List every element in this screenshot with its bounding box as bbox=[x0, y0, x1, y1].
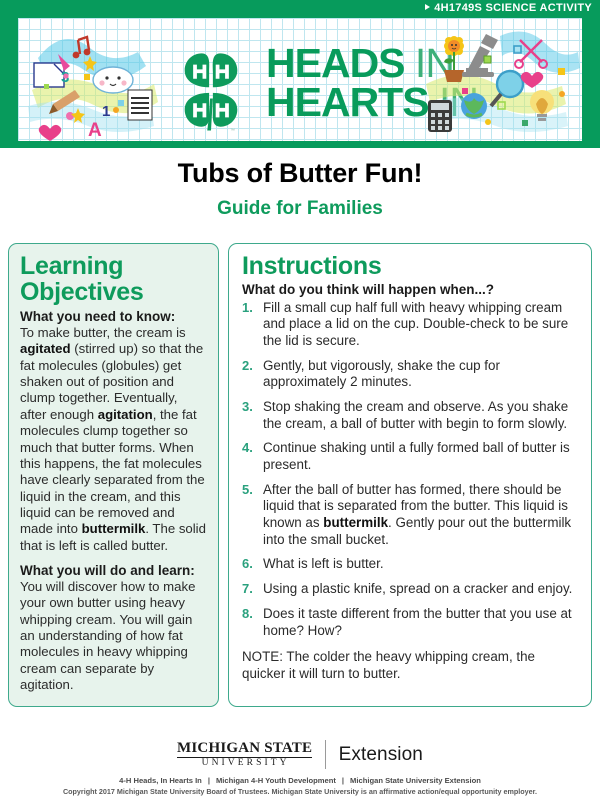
step-text-a: Stop shaking the cream and observe. As y… bbox=[263, 399, 568, 431]
learning-objectives-heading: Learning Objectives bbox=[20, 254, 207, 305]
page-subtitle: Guide for Families bbox=[0, 198, 600, 220]
what-you-will-do-body: You will discover how to make your own b… bbox=[20, 579, 207, 694]
what-you-will-do-label: What you will do and learn: bbox=[20, 563, 207, 578]
brand-hearts: HEARTS bbox=[266, 79, 429, 125]
msu-wordmark: MICHIGAN STATE UNIVERSITY bbox=[177, 741, 312, 769]
header-banner: 3 1 A ™ HEADS IN, HEARTS IN bbox=[18, 18, 582, 141]
banner-right-artwork bbox=[422, 18, 582, 141]
microscope-icon bbox=[462, 34, 498, 77]
list-item: Fill a small cup half full with heavy wh… bbox=[242, 300, 579, 350]
msu-divider bbox=[325, 740, 327, 769]
msu-extension-logo: MICHIGAN STATE UNIVERSITY Extension bbox=[0, 740, 600, 769]
s1-text-a: To make butter, the cream is bbox=[20, 325, 186, 340]
instructions-heading: Instructions bbox=[242, 254, 579, 280]
msu-michigan-state: MICHIGAN STATE bbox=[177, 741, 312, 758]
term-buttermilk-left: buttermilk bbox=[82, 521, 146, 536]
list-item: What is left is butter. bbox=[242, 556, 579, 573]
calculator-icon bbox=[428, 100, 452, 132]
list-item: Continue shaking until a fully formed ba… bbox=[242, 440, 579, 473]
step-text-a: Continue shaking until a fully formed ba… bbox=[263, 440, 570, 472]
credit-3: Michigan State University Extension bbox=[350, 776, 481, 785]
step-text-a: Does it taste different from the butter … bbox=[263, 606, 572, 638]
instructions-note: NOTE: The colder the heavy whipping crea… bbox=[242, 649, 579, 682]
step-bold: buttermilk bbox=[323, 515, 388, 530]
activity-code-text: 4H1749S SCIENCE ACTIVITY bbox=[434, 2, 592, 14]
banner-bottom-bar bbox=[0, 141, 600, 148]
triangle-right-icon bbox=[425, 4, 430, 10]
list-item: After the ball of butter has formed, the… bbox=[242, 482, 579, 549]
activity-code-label: 4H1749S SCIENCE ACTIVITY bbox=[425, 2, 592, 14]
footer-credits: 4-H Heads, In Hearts In|Michigan 4-H You… bbox=[0, 776, 600, 785]
msu-university: UNIVERSITY bbox=[177, 759, 312, 769]
globe-icon bbox=[461, 93, 487, 119]
term-agitated: agitated bbox=[20, 341, 71, 356]
credit-separator-1: | bbox=[202, 776, 216, 785]
credit-1: 4-H Heads, In Hearts In bbox=[119, 776, 202, 785]
banner-left-artwork: 3 1 A bbox=[18, 18, 168, 141]
four-h-clover-icon bbox=[164, 44, 258, 138]
msu-extension-word: Extension bbox=[339, 744, 423, 766]
step-text-a: Using a plastic knife, spread on a crack… bbox=[263, 581, 572, 596]
credit-separator-2: | bbox=[336, 776, 350, 785]
instructions-prompt: What do you think will happen when...? bbox=[242, 282, 579, 297]
list-item: Stop shaking the cream and observe. As y… bbox=[242, 399, 579, 432]
banner-left-strip bbox=[0, 18, 18, 141]
svg-text:A: A bbox=[88, 120, 102, 141]
step-text-a: What is left is butter. bbox=[263, 556, 384, 571]
clover-trademark: ™ bbox=[230, 128, 235, 134]
sunflower-icon bbox=[444, 36, 464, 82]
learning-objectives-box: Learning Objectives What you need to kno… bbox=[8, 243, 219, 707]
s1-text-c: , the fat molecules clump together so mu… bbox=[20, 407, 205, 537]
list-item: Does it taste different from the butter … bbox=[242, 606, 579, 639]
what-you-need-to-know-body: To make butter, the cream is agitated (s… bbox=[20, 325, 207, 554]
msu-logo-inner: MICHIGAN STATE UNIVERSITY Extension bbox=[177, 740, 423, 769]
credit-2: Michigan 4-H Youth Development bbox=[216, 776, 336, 785]
what-you-need-to-know-label: What you need to know: bbox=[20, 309, 207, 324]
list-item: Using a plastic knife, spread on a crack… bbox=[242, 581, 579, 598]
footer-copyright: Copyright 2017 Michigan State University… bbox=[0, 787, 600, 796]
step-text-a: Fill a small cup half full with heavy wh… bbox=[263, 300, 568, 348]
page-title: Tubs of Butter Fun! bbox=[0, 158, 600, 189]
banner-right-strip bbox=[582, 18, 600, 141]
svg-text:1: 1 bbox=[102, 103, 110, 120]
list-item: Gently, but vigorously, shake the cup fo… bbox=[242, 358, 579, 391]
step-text-a: Gently, but vigorously, shake the cup fo… bbox=[263, 358, 500, 390]
instruction-steps-list: Fill a small cup half full with heavy wh… bbox=[242, 300, 579, 640]
term-agitation: agitation bbox=[98, 407, 153, 422]
instructions-box: Instructions What do you think will happ… bbox=[228, 243, 592, 707]
